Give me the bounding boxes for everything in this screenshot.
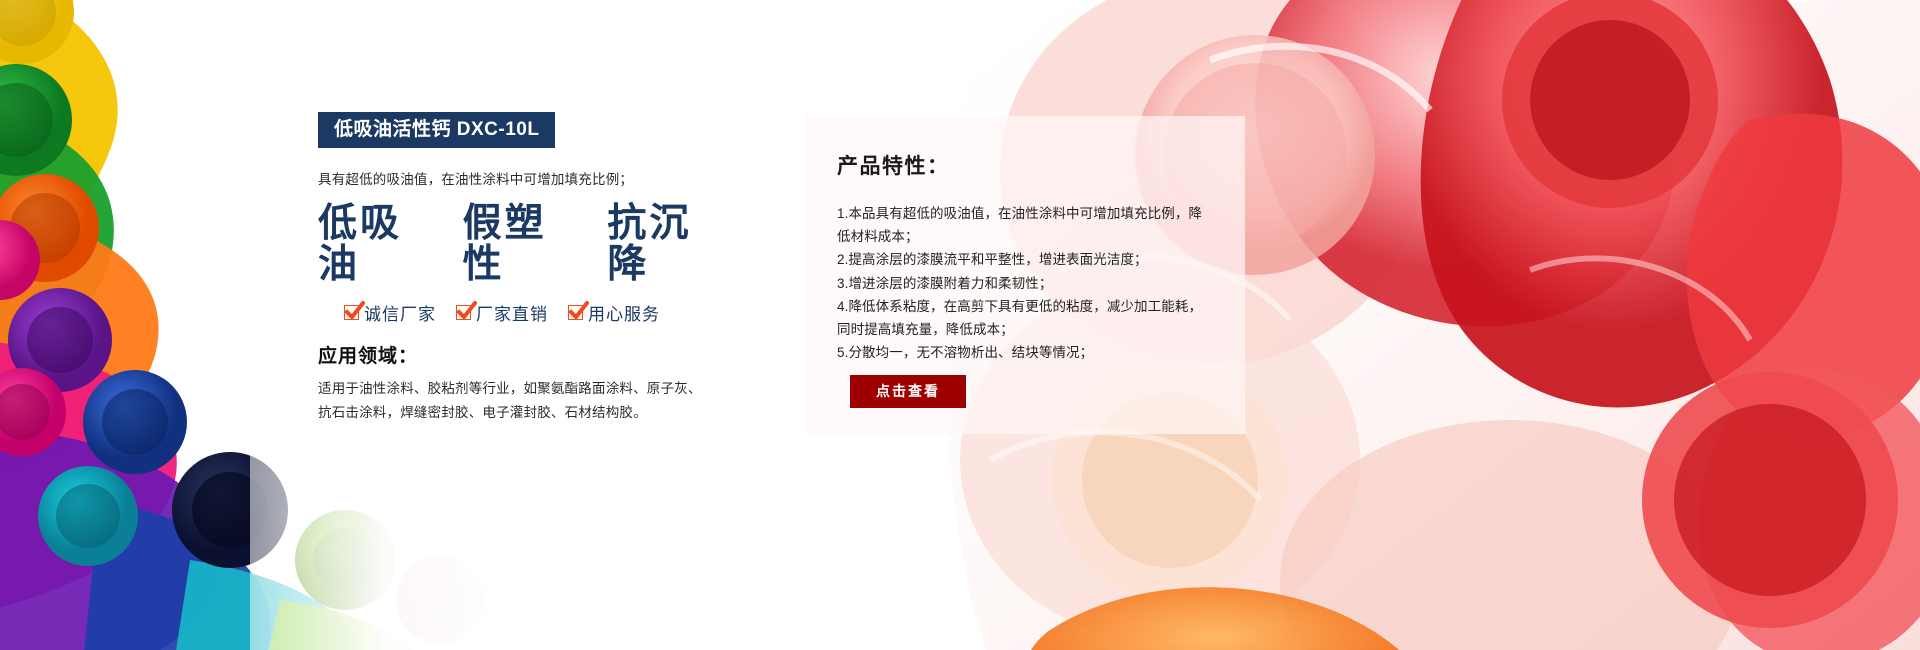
features-list: 1.本品具有超低的吸油值，在油性涂料中可增加填充比例，降低材料成本； 2.提高涂… [837,202,1215,365]
feature-item: 2.提高涂层的漆膜流平和平整性，增进表面光洁度； [837,248,1215,271]
trust-badge-factory-direct: 厂家直销 [456,300,548,325]
application-description: 适用于油性涂料、胶粘剂等行业，如聚氨酯路面涂料、原子灰、抗石击涂料，焊缝密封胶、… [318,377,714,424]
check-mark-icon [344,305,359,320]
feature-item: 4.降低体系粘度，在高剪下具有更低的粘度，减少加工能耗，同时提高填充量，降低成本… [837,295,1215,341]
keyword-low-oil-absorption: 低吸油 [318,204,429,286]
trust-badge-label: 厂家直销 [476,300,548,325]
application-section-title: 应用领域： [318,341,718,368]
keyword-pseudoplasticity: 假塑性 [463,204,574,286]
trust-badge-honest-manufacturer: 诚信厂家 [344,300,436,325]
keyword-anti-settling: 抗沉降 [607,204,718,286]
view-details-button[interactable]: 点击查看 [850,375,966,408]
check-mark-icon [456,305,471,320]
trust-badges: 诚信厂家 厂家直销 用心服务 [344,300,718,325]
left-content-column: 低吸油活性钙 DXC-10L 具有超低的吸油值，在油性涂料中可增加填充比例； 低… [318,112,718,424]
trust-badge-label: 诚信厂家 [364,300,436,325]
feature-item: 3.增进涂层的漆膜附着力和柔韧性； [837,272,1215,295]
check-mark-icon [568,305,583,320]
features-panel-title: 产品特性： [837,150,1215,180]
feature-item: 5.分散均一，无不溶物析出、结块等情况； [837,341,1215,364]
trust-badge-attentive-service: 用心服务 [568,300,660,325]
trust-badge-label: 用心服务 [588,300,660,325]
product-lead-text: 具有超低的吸油值，在油性涂料中可增加填充比例； [318,170,718,190]
product-banner: 低吸油活性钙 DXC-10L 具有超低的吸油值，在油性涂料中可增加填充比例； 低… [0,0,1920,650]
product-title-tag: 低吸油活性钙 DXC-10L [318,112,555,148]
product-keywords: 低吸油 假塑性 抗沉降 [318,204,718,286]
feature-item: 1.本品具有超低的吸油值，在油性涂料中可增加填充比例，降低材料成本； [837,202,1215,248]
